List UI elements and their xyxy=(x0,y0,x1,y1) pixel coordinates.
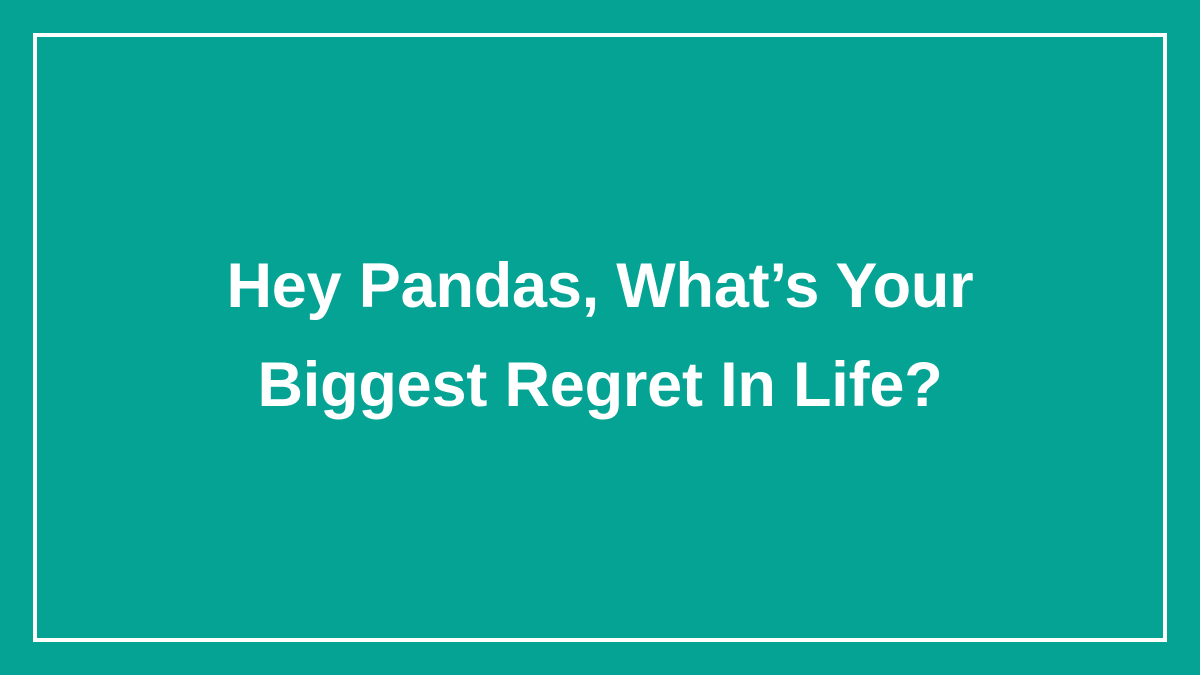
headline-block: Hey Pandas, What’s Your Biggest Regret I… xyxy=(100,237,1100,439)
page-title: Hey Pandas, What’s Your Biggest Regret I… xyxy=(100,237,1100,435)
headline-line-1: Hey Pandas, What’s Your xyxy=(100,237,1100,336)
headline-line-2: Biggest Regret In Life? xyxy=(100,336,1100,435)
question-card: Hey Pandas, What’s Your Biggest Regret I… xyxy=(0,0,1200,675)
